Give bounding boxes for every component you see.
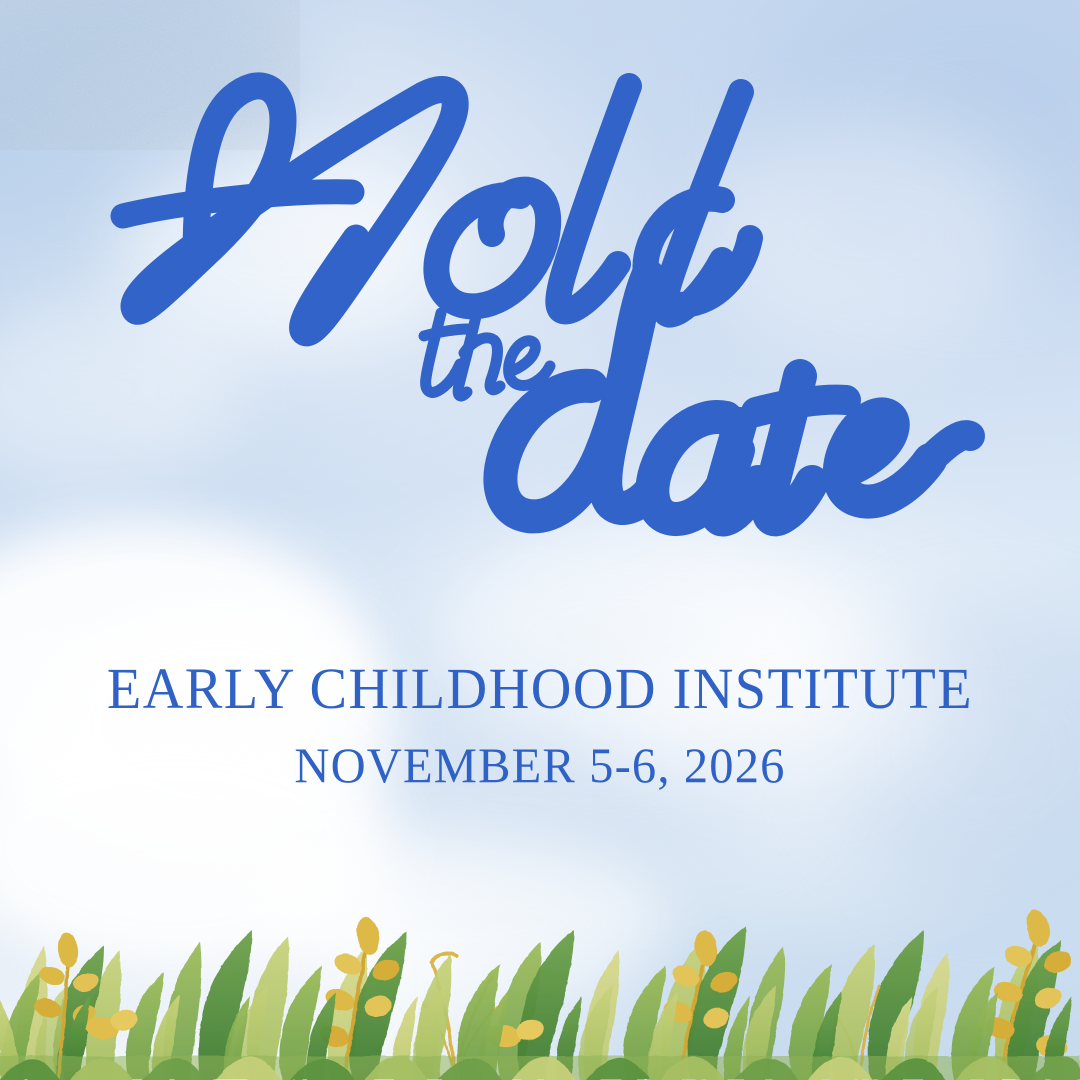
event-name: EARLY CHILDHOOD INSTITUTE [16, 660, 1064, 718]
headline-script-artwork [0, 0, 1080, 620]
event-text-block: EARLY CHILDHOOD INSTITUTE NOVEMBER 5-6, … [0, 660, 1080, 790]
event-dates: NOVEMBER 5-6, 2026 [16, 740, 1064, 790]
save-the-date-poster: EARLY CHILDHOOD INSTITUTE NOVEMBER 5-6, … [0, 0, 1080, 1080]
grass-border-artwork [0, 850, 1080, 1080]
